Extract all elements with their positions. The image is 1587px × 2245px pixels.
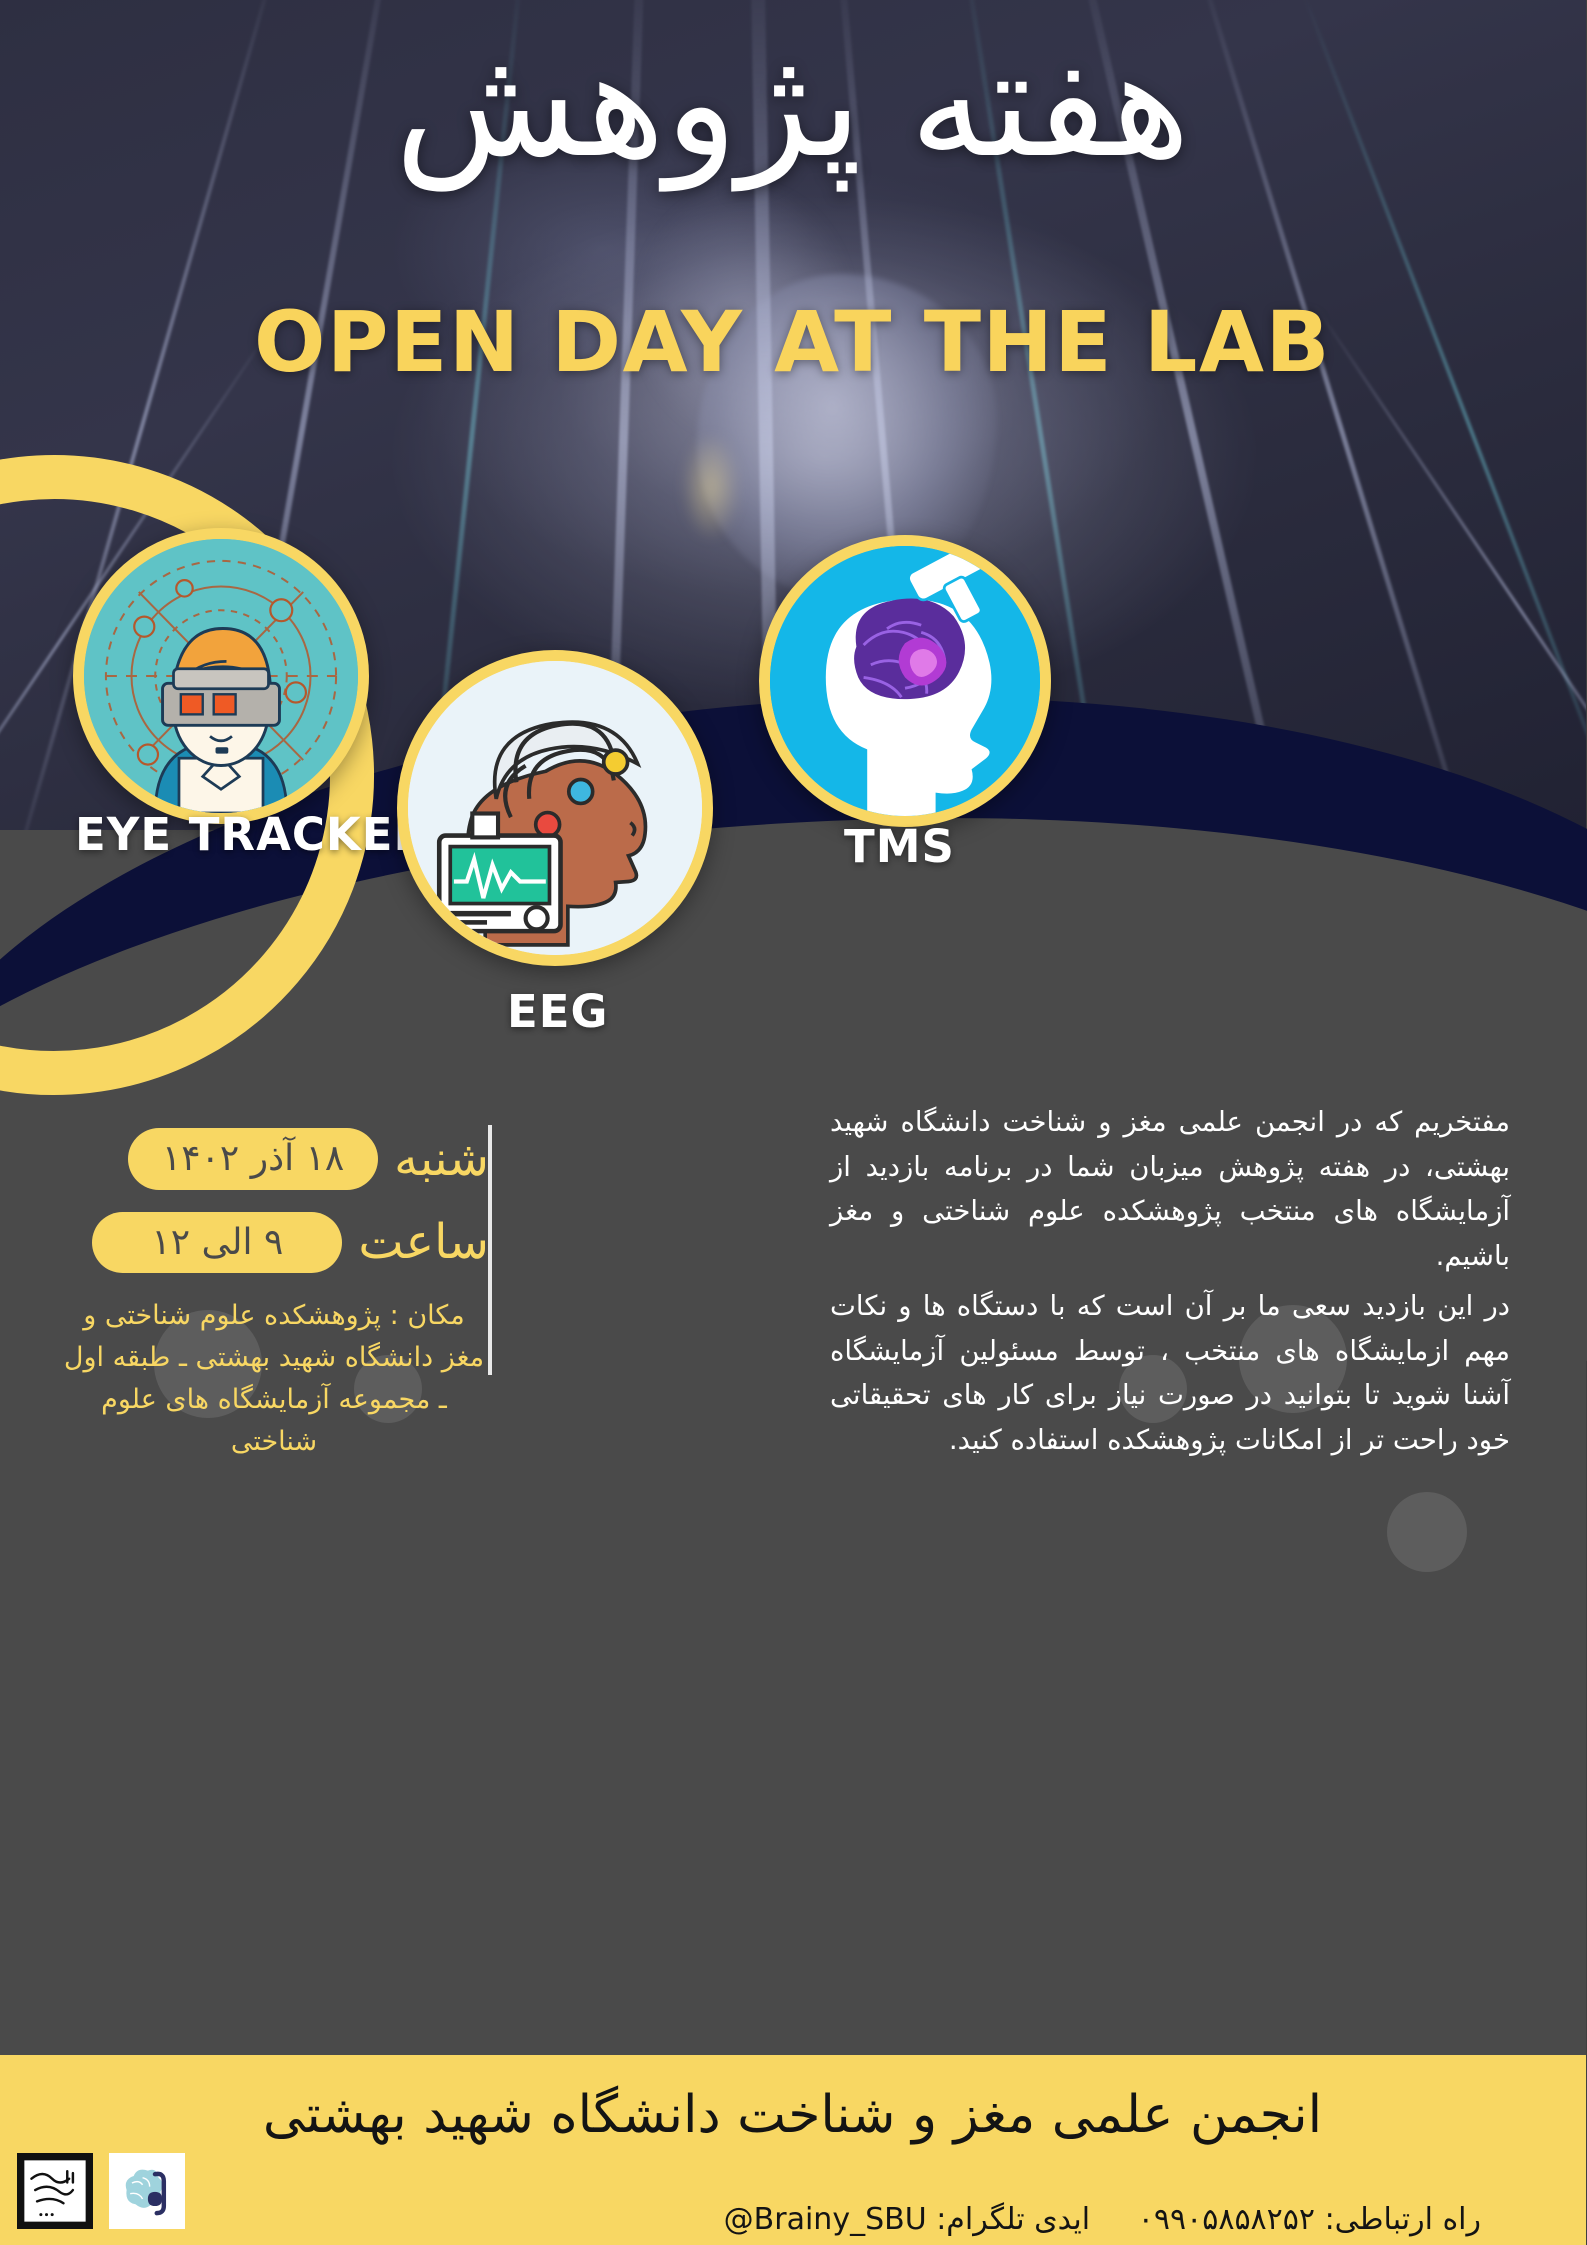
icon-label-eye-tracker: EYE TRACKER: [76, 808, 430, 861]
page-title-persian: هفته پژوهش: [0, 26, 1587, 184]
footer-contact-label: راه ارتباطی:: [1326, 2202, 1482, 2237]
icon-circle-eye-tracker[interactable]: [74, 528, 370, 824]
eye-tracker-headset-icon: [85, 539, 359, 813]
footer-banner: انجمن علمی مغز و شناخت دانشگاه شهید بهشت…: [0, 2055, 1587, 2245]
tms-coil-brain-icon: [771, 546, 1041, 816]
icon-circle-tms[interactable]: [760, 535, 1052, 827]
eeg-cap-monitor-icon: [409, 661, 703, 955]
body-paragraph-2: در این بازدید سعی ما بر آن است که با دست…: [831, 1284, 1511, 1462]
body-paragraph-1: مفتخریم که در انجمن علمی مغز و شناخت دان…: [831, 1100, 1511, 1278]
icon-circle-eeg[interactable]: [398, 650, 714, 966]
icon-label-eeg: EEG: [508, 985, 609, 1038]
sbu-logo-icon: [23, 2158, 89, 2224]
brain-logo-icon: [117, 2160, 179, 2222]
event-date-row: شنبه ۱۸ آذر ۱۴۰۲: [60, 1128, 490, 1190]
footer-contact-line: راه ارتباطی: ۰۹۹۰۵۸۵۸۲۵۲ ایدی تلگرام: @B…: [725, 2202, 1482, 2237]
event-time-row: ساعت ۹ الی ۱۲: [60, 1212, 490, 1274]
footer-telegram-handle[interactable]: @Brainy_SBU: [725, 2202, 928, 2237]
neuron-gold-glow: [682, 432, 742, 542]
event-date-pill: ۱۸ آذر ۱۴۰۲: [129, 1128, 379, 1190]
poster-root: هفته پژوهش OPEN DAY AT THE LAB: [0, 0, 1587, 2245]
bokeh-dot: [1388, 1492, 1468, 1572]
body-description: مفتخریم که در انجمن علمی مغز و شناخت دان…: [831, 1100, 1511, 1462]
footer-telegram-label: ایدی تلگرام:: [937, 2202, 1091, 2237]
event-day-label: شنبه: [395, 1135, 490, 1183]
footer-organization: انجمن علمی مغز و شناخت دانشگاه شهید بهشت…: [0, 2085, 1587, 2145]
event-meta: شنبه ۱۸ آذر ۱۴۰۲ ساعت ۹ الی ۱۲ مکان : پژ…: [60, 1128, 490, 1463]
icon-label-tms: TMS: [845, 820, 956, 873]
logo-brain-association: [110, 2153, 186, 2229]
logo-shahid-beheshti-university: [18, 2153, 94, 2229]
page-title-english: OPEN DAY AT THE LAB: [0, 300, 1587, 384]
event-time-pill: ۹ الی ۱۲: [93, 1212, 343, 1274]
event-place: مکان : پژوهشکده علوم شناختی و مغز دانشگا…: [60, 1295, 490, 1462]
event-time-label: ساعت: [359, 1218, 490, 1266]
footer-contact-phone: ۰۹۹۰۵۸۵۸۲۵۲: [1139, 2202, 1316, 2237]
